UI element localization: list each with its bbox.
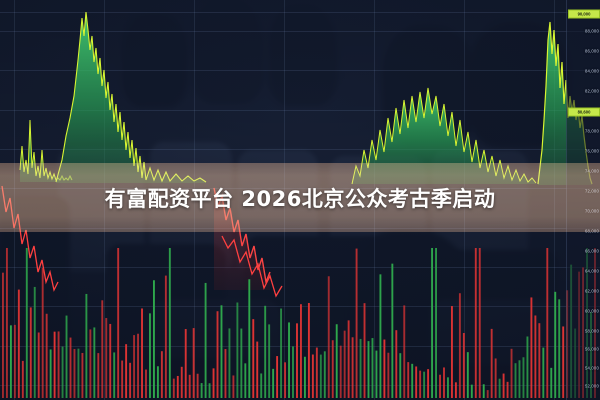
price-tag-secondary[interactable]: 80,600 (568, 108, 600, 117)
volume-bar (189, 375, 191, 398)
axis-tick-label: 56,000 (585, 347, 599, 352)
volume-bar (340, 346, 342, 398)
volume-bar (558, 299, 560, 398)
volume-bar (54, 332, 56, 398)
volume-bar (459, 293, 461, 398)
volume-bar (125, 344, 127, 398)
volume-bar (46, 314, 48, 398)
axis-tick-label: 60,000 (585, 309, 599, 314)
volume-bar (70, 338, 72, 398)
volume-bar (276, 356, 278, 398)
volume-bar (272, 369, 274, 398)
volume-bar (387, 353, 389, 398)
volume-bar (62, 347, 64, 398)
screenshot-root: 88,000 86,000 84,000 82,000 78,000 76,00… (0, 0, 600, 400)
volume-bar (515, 363, 517, 398)
volume-bar (407, 362, 409, 398)
volume-bar (66, 316, 68, 398)
volume-bar (419, 371, 421, 398)
volume-bar (177, 376, 179, 398)
volume-bar (217, 311, 219, 398)
volume-bar (336, 324, 338, 398)
volume-bar (113, 352, 115, 398)
axis-tick-label: 54,000 (585, 366, 599, 371)
volume-bar (352, 337, 354, 398)
volume-bar (58, 331, 60, 398)
volume-bar (534, 315, 536, 398)
volume-bar (463, 333, 465, 398)
volume-bar (399, 353, 401, 398)
volume-bar (18, 290, 20, 398)
volume-bar (546, 248, 548, 398)
volume-bar (181, 367, 183, 398)
volume-bar (26, 248, 28, 398)
volume-bar (244, 363, 246, 398)
axis-tick-label: 64,000 (585, 269, 599, 274)
volume-bar (411, 364, 413, 398)
volume-bar (213, 368, 215, 398)
volume-bar (22, 361, 24, 398)
volume-bar (316, 348, 318, 398)
volume-bar (395, 330, 397, 398)
axis-tick-label: 86,000 (585, 49, 599, 54)
volume-bar (427, 369, 429, 398)
volume-bar (435, 248, 437, 398)
volume-bar (30, 307, 32, 398)
volume-bar (292, 346, 294, 398)
volume-bar (252, 319, 254, 398)
volume-bar (372, 338, 374, 398)
volume-bar (232, 375, 234, 398)
price-tag-label: 80,600 (578, 110, 591, 115)
volume-bar (507, 382, 509, 398)
volume-bar (193, 328, 195, 398)
volume-bar (403, 305, 405, 398)
price-tag-label: 90,000 (578, 12, 591, 17)
volume-bar (324, 351, 326, 398)
volume-bar (141, 308, 143, 398)
volume-bar (89, 329, 91, 398)
axis-tick-label: 52,000 (585, 384, 599, 389)
volume-bar (165, 276, 167, 398)
volume-bar (284, 362, 286, 398)
volume-bar (42, 268, 44, 398)
volume-bar (137, 334, 139, 398)
volume-bar (34, 287, 36, 398)
volume-bar (312, 355, 314, 398)
axis-tick-label: 66,000 (585, 249, 599, 254)
volume-bar (475, 248, 477, 398)
axis-tick-label: 58,000 (585, 329, 599, 334)
volume-bar (221, 305, 223, 398)
axis-tick-label: 82,000 (585, 89, 599, 94)
volume-bar (523, 357, 525, 398)
volume-bar (487, 390, 489, 398)
volume-bar (161, 351, 163, 398)
volume-bar (348, 320, 350, 398)
volume-bar (153, 280, 155, 398)
volume-bar (511, 349, 513, 398)
volume-bar (157, 366, 159, 398)
volume-bar (268, 324, 270, 398)
volume-bar (491, 329, 493, 398)
volume-bar (375, 351, 377, 398)
volume-bar (185, 329, 187, 398)
volume-bar (415, 366, 417, 398)
volume-bar (6, 248, 8, 398)
volume-bar (129, 363, 131, 398)
volume-bar (2, 273, 4, 398)
volume-bar (423, 372, 425, 398)
volume-bar (173, 379, 175, 398)
volume-bar (431, 248, 433, 398)
volume-bar (530, 297, 532, 398)
volume-bar (197, 374, 199, 398)
volume-bar (562, 326, 564, 398)
volume-bar (248, 279, 250, 398)
volume-bar (550, 368, 552, 398)
volume-bar (344, 331, 346, 398)
volume-bar (364, 303, 366, 398)
page-title: 有富配资平台 2026北京公众考古季启动 (0, 163, 600, 232)
volume-bar (77, 349, 79, 398)
volume-bar (169, 248, 171, 398)
volume-bar (240, 329, 242, 398)
volume-bar (304, 357, 306, 398)
volume-bar (495, 358, 497, 398)
volume-bar (264, 306, 266, 398)
volume-bar (499, 379, 501, 398)
axis-tick-label: 78,000 (585, 129, 599, 134)
volume-bar (93, 327, 95, 398)
volume-bar (74, 349, 76, 398)
volume-bar (209, 383, 211, 398)
volume-histogram (2, 248, 596, 398)
volume-bar (10, 325, 12, 398)
volume-bar (447, 377, 449, 398)
volume-bar (50, 349, 52, 398)
volume-bar (439, 375, 441, 398)
volume-bar (479, 248, 481, 398)
axis-tick-label: 88,000 (585, 29, 599, 34)
volume-bar (332, 340, 334, 398)
volume-bar (360, 339, 362, 398)
volume-bar (383, 340, 385, 398)
volume-bar (121, 361, 123, 398)
volume-bar (328, 276, 330, 398)
volume-bar (288, 322, 290, 398)
volume-bar (471, 385, 473, 398)
volume-bar (280, 309, 282, 398)
volume-bar (145, 370, 147, 398)
volume-bar (519, 360, 521, 398)
volume-bar (101, 300, 103, 398)
volume-bar (467, 352, 469, 398)
volume-bar (38, 333, 40, 399)
volume-bar (109, 324, 111, 398)
volume-bar (538, 323, 540, 398)
volume-bar (149, 313, 151, 398)
volume-bar (451, 306, 453, 398)
volume-bar (554, 292, 556, 398)
volume-bar (260, 373, 262, 398)
volume-bar (105, 318, 107, 398)
volume-bar (133, 335, 135, 398)
volume-bar (526, 336, 528, 398)
volume-bar (296, 323, 298, 398)
axis-tick-label: 76,000 (585, 149, 599, 154)
volume-bar (379, 274, 381, 398)
volume-bar (483, 384, 485, 398)
volume-bar (391, 264, 393, 398)
price-tag-current[interactable]: 90,000 (568, 10, 600, 19)
axis-tick-label: 84,000 (585, 69, 599, 74)
volume-bar (228, 328, 230, 398)
volume-bar (205, 283, 207, 398)
volume-bar (503, 374, 505, 398)
volume-bar (85, 294, 87, 398)
volume-bar (542, 348, 544, 398)
axis-tick-label: 62,000 (585, 289, 599, 294)
volume-bar (81, 353, 83, 398)
volume-bar (117, 248, 119, 398)
volume-bar (14, 325, 16, 398)
series-green-peak (56, 12, 206, 183)
volume-bar (320, 355, 322, 398)
volume-bar (443, 367, 445, 398)
volume-bar (455, 382, 457, 398)
volume-bar (97, 353, 99, 398)
volume-bar (300, 304, 302, 398)
volume-bar (368, 341, 370, 398)
volume-bar (308, 303, 310, 398)
volume-bar (356, 249, 358, 398)
volume-bar (256, 342, 258, 398)
volume-bar (225, 349, 227, 398)
volume-bar (236, 302, 238, 398)
volume-bar (201, 383, 203, 398)
